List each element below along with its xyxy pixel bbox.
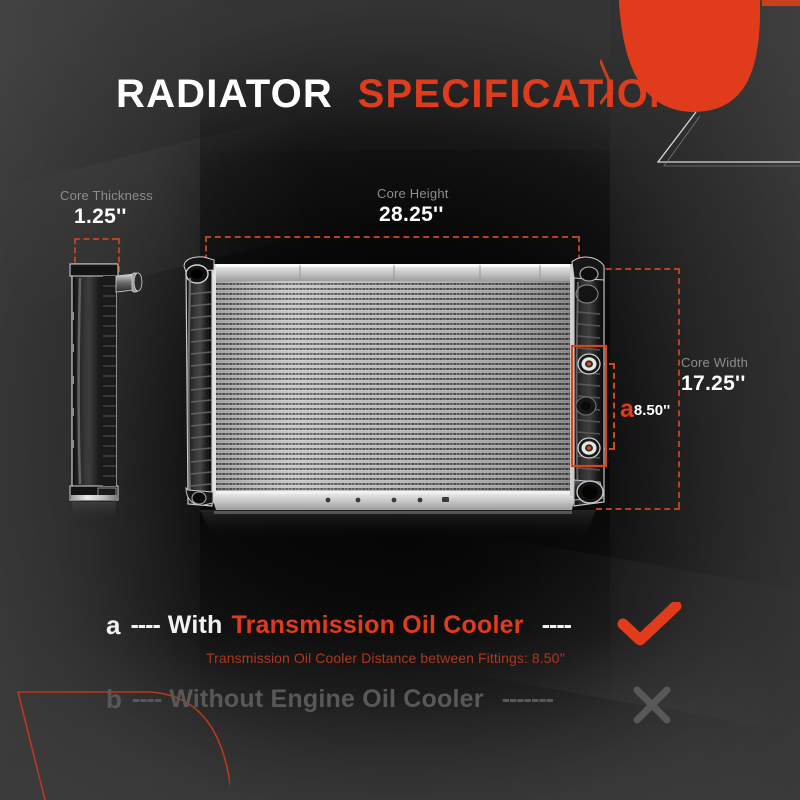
legend-b-dash-right: ------- [502,685,553,714]
core-height-label: Core Height [377,186,449,201]
transmission-cooler-fitting-upper [578,354,600,374]
guide-core-height-top [205,236,578,238]
fitting-distance-marker: a8.50'' [620,395,670,424]
radiator-side-view [58,252,154,542]
guide-core-width-line [678,268,680,508]
core-width-value: 17.25'' [681,372,746,396]
check-mark-icon [617,602,683,646]
transmission-cooler-fitting-lower [578,438,600,458]
legend-b-letter: b [106,684,122,715]
legend-note: Transmission Oil Cooler Distance between… [206,650,565,666]
legend-row-without-engine-cooler: b ---- Without Engine Oil Cooler ------- [106,684,553,715]
fitting-distance-value: 8.50'' [634,402,670,419]
page-title-primary: RADIATOR [116,72,333,116]
legend-b-text: Without Engine Oil Cooler [169,685,483,714]
legend-row-with-transmission-cooler: a ---- With Transmission Oil Cooler ---- [106,610,571,641]
core-width-label: Core Width [681,355,748,370]
legend-b-dash-left: ---- [132,685,161,714]
radiator-specification-graphic: RADIATOR SPECIFICATION [0,0,800,800]
legend-a-text-accent: Transmission Oil Cooler [232,611,524,640]
legend-a-text-primary: With [168,611,223,640]
core-thickness-value: 1.25'' [74,205,127,229]
legend-a-letter: a [106,610,120,641]
page-title-accent: SPECIFICATION [358,72,680,116]
legend-a-dash-left: ---- [130,611,159,640]
page-title: RADIATOR SPECIFICATION [116,72,679,117]
core-height-value: 28.25'' [379,203,444,227]
radiator-front-view [180,248,626,548]
legend-a-dash-right: ---- [542,611,571,640]
cross-mark-icon [630,683,674,727]
fitting-distance-letter: a [620,395,634,423]
guide-core-thickness-top [74,238,118,240]
core-thickness-label: Core Thickness [60,188,153,203]
